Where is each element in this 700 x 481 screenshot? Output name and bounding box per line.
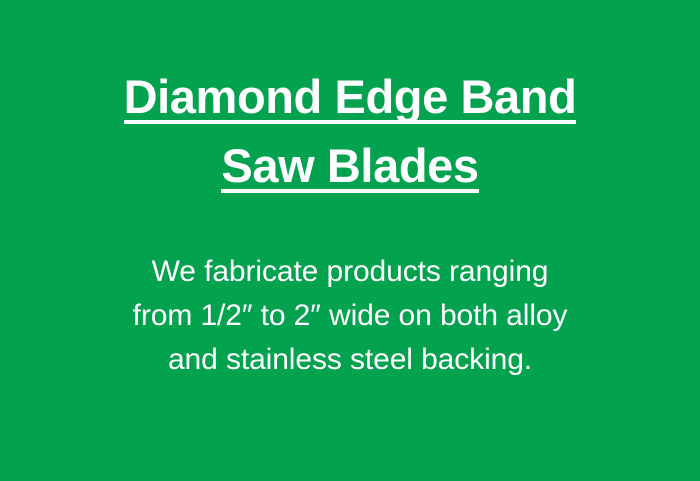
description-line-1: We fabricate products ranging [0, 200, 700, 294]
description-line-2: from 1/2″ to 2″ wide on both alloy [0, 294, 700, 338]
description-block: We fabricate products ranging from 1/2″ … [0, 200, 700, 382]
page-title-line-2: Saw Blades [0, 131, 700, 200]
page-title-line-1-text: Diamond Edge Band [124, 62, 577, 131]
heading-block: Diamond Edge Band Saw Blades [0, 0, 700, 200]
promo-banner: Diamond Edge Band Saw Blades We fabricat… [0, 0, 700, 481]
description-line-3: and stainless steel backing. [0, 338, 700, 382]
page-title-line-2-text: Saw Blades [221, 131, 478, 200]
page-title-line-1: Diamond Edge Band [0, 0, 700, 131]
